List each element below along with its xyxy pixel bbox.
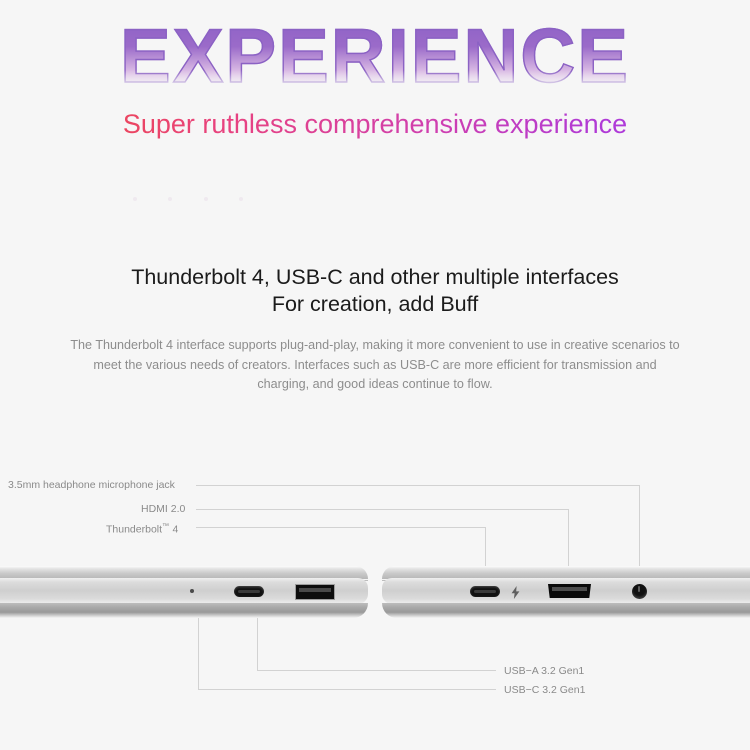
hdmi-port bbox=[548, 584, 591, 598]
trademark-icon: ™ bbox=[162, 523, 170, 530]
leader-line-headphone-jack-horizontal bbox=[196, 485, 639, 486]
laptop-right-edge-photo bbox=[382, 566, 750, 620]
laptop-left-edge-photo bbox=[0, 566, 368, 620]
hero-title: EXPERIENCE bbox=[120, 14, 630, 100]
leader-line-usb-a-horizontal bbox=[257, 670, 496, 671]
leader-line-usb-a-vertical bbox=[257, 612, 258, 671]
dot-icon bbox=[204, 197, 208, 201]
hero-title-block: EXPERIENCE bbox=[0, 14, 750, 100]
callout-thunderbolt-word: Thunderbolt bbox=[106, 524, 162, 536]
usb-c-port bbox=[234, 586, 264, 597]
thunderbolt-bolt-icon bbox=[510, 586, 520, 599]
leader-line-usb-c-vertical bbox=[198, 612, 199, 690]
section-heading-line2: For creation, add Buff bbox=[0, 291, 750, 318]
laptop-left-bottom-surface bbox=[0, 603, 368, 618]
callout-label-thunderbolt: Thunderbolt™ 4 bbox=[106, 520, 178, 537]
callout-label-usb-a: USB−A 3.2 Gen1 bbox=[504, 665, 584, 678]
section-heading-line1: Thunderbolt 4, USB-C and other multiple … bbox=[131, 265, 619, 289]
decorative-dots bbox=[133, 192, 243, 206]
leader-line-hdmi-horizontal bbox=[196, 509, 568, 510]
thunderbolt-usb-c-port bbox=[470, 586, 500, 597]
callout-label-usb-c: USB−C 3.2 Gen1 bbox=[504, 684, 585, 697]
callout-thunderbolt-number: 4 bbox=[170, 524, 179, 536]
dot-icon bbox=[239, 197, 243, 201]
pinhole-icon bbox=[190, 589, 194, 593]
product-feature-page: EXPERIENCE Super ruthless comprehensive … bbox=[0, 0, 750, 750]
laptop-right-bottom-surface bbox=[382, 603, 750, 618]
section-paragraph: The Thunderbolt 4 interface supports plu… bbox=[70, 336, 680, 395]
dot-icon bbox=[133, 197, 137, 201]
callout-label-headphone-jack: 3.5mm headphone microphone jack bbox=[8, 479, 175, 492]
dot-icon bbox=[168, 197, 172, 201]
section-heading: Thunderbolt 4, USB-C and other multiple … bbox=[0, 264, 750, 318]
callout-label-hdmi: HDMI 2.0 bbox=[141, 503, 185, 516]
leader-line-thunderbolt-horizontal bbox=[196, 527, 485, 528]
leader-line-usb-c-horizontal bbox=[198, 689, 496, 690]
usb-a-port bbox=[295, 584, 335, 600]
headphone-jack-port bbox=[632, 584, 647, 599]
page-subtitle: Super ruthless comprehensive experience bbox=[0, 104, 750, 144]
